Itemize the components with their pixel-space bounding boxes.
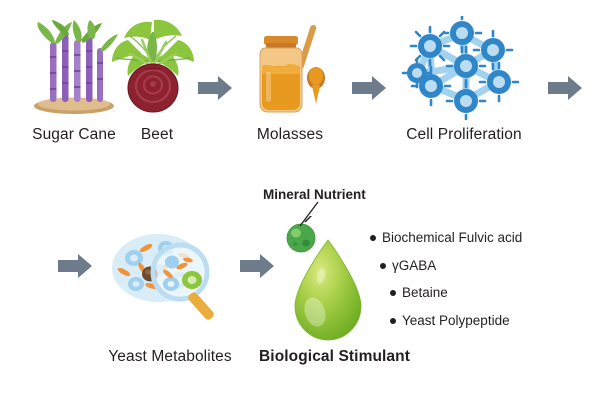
list-item: Biochemical Fulvic acid — [370, 230, 580, 246]
cell-network-icon — [400, 16, 520, 120]
list-item: Betaine — [390, 285, 580, 301]
mineral-nutrient-connector — [298, 200, 332, 228]
molasses-jar-icon — [248, 18, 330, 118]
green-droplet-icon — [283, 236, 373, 346]
arrow-right-icon-2 — [352, 76, 386, 100]
component-label: Yeast Polypeptide — [402, 313, 510, 329]
magnifier-cells-icon — [108, 218, 228, 330]
list-item: γGABA — [380, 258, 580, 274]
step-label-beet: Beet — [122, 126, 192, 144]
bullet-dot-icon — [390, 290, 396, 296]
component-label: Betaine — [402, 285, 448, 301]
list-item: Yeast Polypeptide — [390, 313, 580, 329]
step-label-biological-stimulant: Biological Stimulant — [259, 348, 399, 366]
arrow-right-icon-3 — [548, 76, 582, 100]
step-label-sugar-cane: Sugar Cane — [14, 126, 134, 144]
bullet-dot-icon — [380, 263, 386, 269]
step-label-molasses: Molasses — [238, 126, 342, 144]
step-label-yeast-metabolites: Yeast Metabolites — [98, 348, 242, 366]
component-list: Biochemical Fulvic acid γGABA Betaine Ye… — [370, 230, 580, 340]
bullet-dot-icon — [370, 235, 376, 241]
arrow-right-icon-4 — [58, 254, 92, 278]
component-label: Biochemical Fulvic acid — [382, 230, 522, 246]
step-label-cell-proliferation: Cell Proliferation — [392, 126, 536, 144]
arrow-right-icon-1 — [198, 76, 232, 100]
arrow-right-icon-5 — [240, 254, 274, 278]
diagram-canvas: Sugar Cane Beet — [0, 0, 600, 400]
beet-icon — [108, 16, 196, 116]
component-label: γGABA — [392, 258, 436, 274]
sugar-cane-icon — [28, 20, 120, 115]
bullet-dot-icon — [390, 318, 396, 324]
